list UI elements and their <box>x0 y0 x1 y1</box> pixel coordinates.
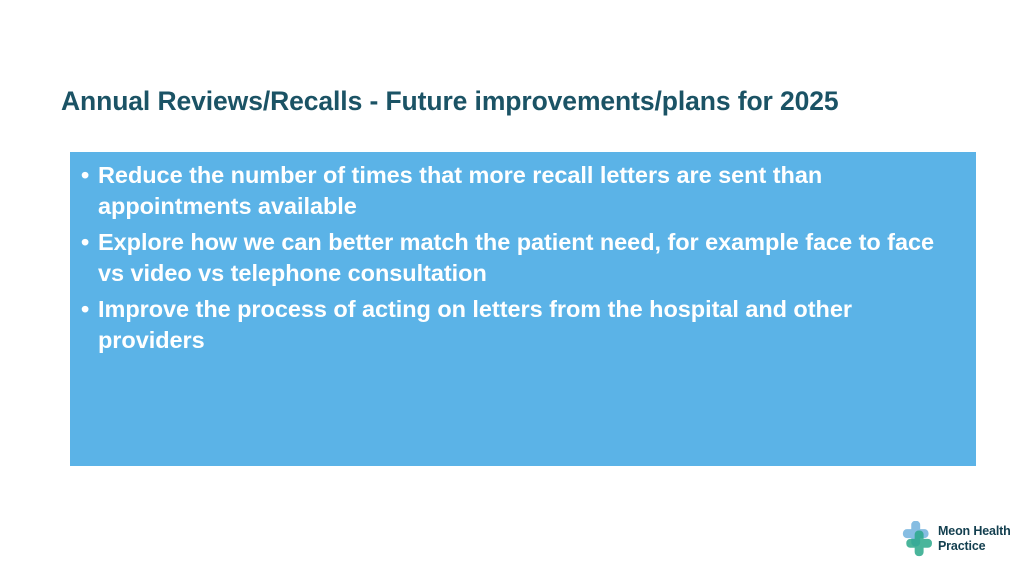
list-item-label: Explore how we can better match the pati… <box>98 227 946 288</box>
list-item: • Improve the process of acting on lette… <box>70 294 976 355</box>
list-item-label: Improve the process of acting on letters… <box>98 294 946 355</box>
list-item-label: Reduce the number of times that more rec… <box>98 160 946 221</box>
list-item: • Reduce the number of times that more r… <box>70 160 976 221</box>
list-item: • Explore how we can better match the pa… <box>70 227 976 288</box>
content-panel: • Reduce the number of times that more r… <box>70 152 976 466</box>
bullet-dot-icon: • <box>81 160 89 191</box>
brand-logo-line-1: Meon Health <box>938 524 1011 539</box>
medical-cross-logo-icon <box>897 521 935 559</box>
brand-logo-text: Meon Health Practice <box>938 524 1011 554</box>
brand-logo: Meon Health Practice <box>897 519 1015 563</box>
bullet-list: • Reduce the number of times that more r… <box>70 160 976 355</box>
slide-canvas: Annual Reviews/Recalls - Future improvem… <box>0 0 1024 576</box>
page-title: Annual Reviews/Recalls - Future improvem… <box>61 86 961 116</box>
brand-logo-line-2: Practice <box>938 539 1011 554</box>
bullet-dot-icon: • <box>81 294 89 325</box>
bullet-dot-icon: • <box>81 227 89 258</box>
